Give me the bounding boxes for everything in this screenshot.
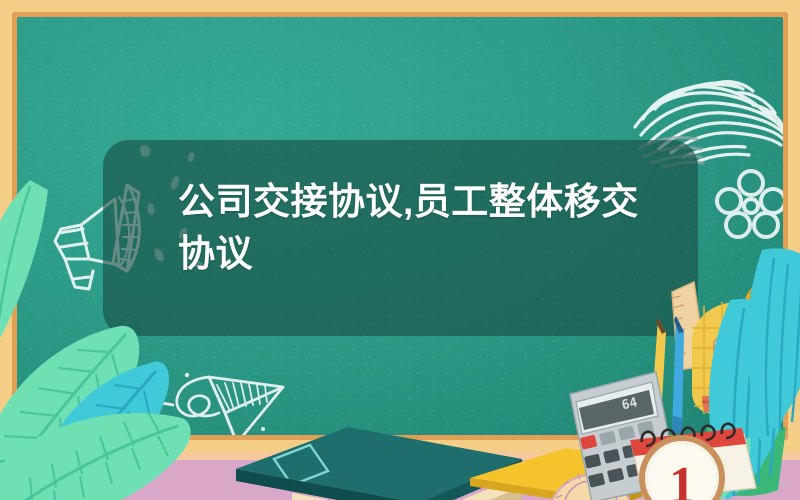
magnifying-glass[interactable]: 1 <box>630 432 735 500</box>
leaf-mint-lower <box>0 398 192 500</box>
leaf-teal-far-right <box>742 250 800 450</box>
magnifier-number: 1 <box>669 457 695 500</box>
page-title: 公司交接协议,员工整体移交协议 <box>178 176 648 280</box>
chalk-flower-icon <box>711 165 783 245</box>
poster-canvas: 公司交接协议,员工整体移交协议 <box>0 0 800 500</box>
